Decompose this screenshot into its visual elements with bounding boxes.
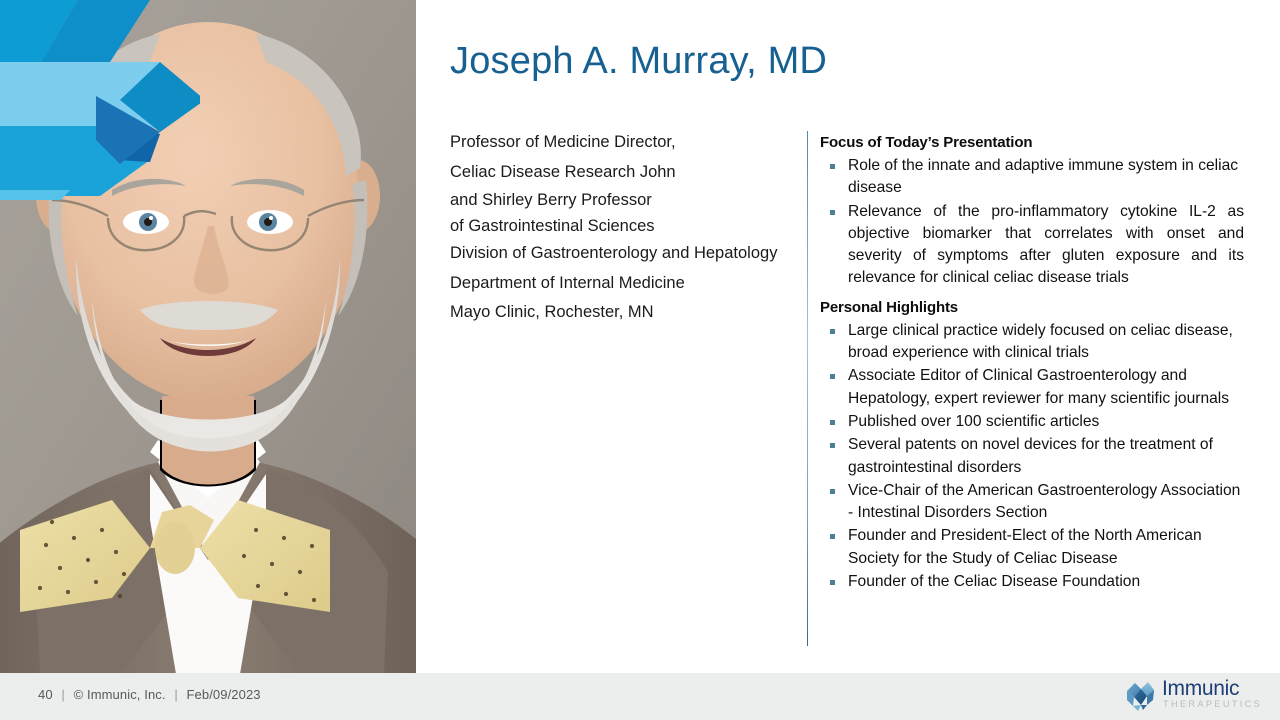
square-bullet-icon <box>830 164 835 169</box>
focus-bullet-list: Role of the innate and adaptive immune s… <box>820 155 1244 290</box>
square-bullet-icon <box>830 420 835 425</box>
affiliation-line: of Gastrointestinal Sciences <box>450 213 798 239</box>
square-bullet-icon <box>830 329 835 334</box>
square-bullet-icon <box>830 489 835 494</box>
immunic-logo-mark-icon <box>1124 679 1158 712</box>
list-item-text: Founder of the Celiac Disease Foundation <box>848 573 1140 590</box>
portrait-illustration <box>0 0 416 674</box>
section-heading-personal: Personal Highlights <box>820 298 1244 318</box>
list-item: Role of the innate and adaptive immune s… <box>820 155 1244 200</box>
vertical-divider <box>807 131 808 646</box>
section-heading-focus: Focus of Today’s Presentation <box>820 133 1244 153</box>
footer-date: Feb/09/2023 <box>187 687 261 702</box>
logo-tagline: THERAPEUTICS <box>1163 699 1262 710</box>
list-item: Vice-Chair of the American Gastroenterol… <box>820 480 1244 525</box>
list-item: Relevance of the pro-inflammatory cytoki… <box>820 201 1244 290</box>
affiliation-line: Department of Internal Medicine <box>450 269 798 299</box>
list-item-text: Large clinical practice widely focused o… <box>848 322 1233 361</box>
list-item-text: Founder and President-Elect of the North… <box>848 527 1202 566</box>
square-bullet-icon <box>830 443 835 448</box>
list-item: Several patents on novel devices for the… <box>820 434 1244 479</box>
footer-separator: | <box>169 687 182 702</box>
affiliation-block: Professor of Medicine Director, Celiac D… <box>450 128 798 328</box>
copyright-text: © Immunic, Inc. <box>74 687 166 702</box>
list-item-text: Role of the innate and adaptive immune s… <box>848 157 1238 196</box>
list-item: Associate Editor of Clinical Gastroenter… <box>820 365 1244 410</box>
square-bullet-icon <box>830 534 835 539</box>
square-bullet-icon <box>830 374 835 379</box>
affiliation-line: Professor of Medicine Director, <box>450 128 798 158</box>
affiliation-line: Mayo Clinic, Rochester, MN <box>450 298 798 328</box>
list-item-text: Associate Editor of Clinical Gastroenter… <box>848 367 1229 406</box>
list-item: Large clinical practice widely focused o… <box>820 320 1244 365</box>
footer-text: 40 | © Immunic, Inc. | Feb/09/2023 <box>38 687 261 702</box>
slide-number: 40 <box>38 687 53 702</box>
list-item-text: Several patents on novel devices for the… <box>848 436 1213 475</box>
affiliation-line: Division of Gastroenterology and Hepatol… <box>450 239 798 269</box>
list-item: Founder and President-Elect of the North… <box>820 525 1244 570</box>
immunic-logo: Immunic THERAPEUTICS <box>1124 678 1254 714</box>
square-bullet-icon <box>830 210 835 215</box>
portrait-photo <box>0 0 416 674</box>
affiliation-line: and Shirley Berry Professor <box>450 187 798 213</box>
logo-wordmark: Immunic <box>1162 678 1239 700</box>
personal-bullet-list: Large clinical practice widely focused o… <box>820 320 1244 594</box>
list-item-text: Vice-Chair of the American Gastroenterol… <box>848 482 1240 521</box>
slide: Joseph A. Murray, MD Professor of Medici… <box>0 0 1280 720</box>
affiliation-line: Celiac Disease Research John <box>450 158 798 188</box>
list-item-text: Published over 100 scientific articles <box>848 413 1099 430</box>
highlights-column: Focus of Today’s Presentation Role of th… <box>820 133 1244 594</box>
square-bullet-icon <box>830 580 835 585</box>
page-title: Joseph A. Murray, MD <box>450 40 827 83</box>
footer-separator: | <box>56 687 69 702</box>
list-item-text: Relevance of the pro-inflammatory cytoki… <box>848 203 1244 287</box>
list-item: Published over 100 scientific articles <box>820 411 1244 433</box>
list-item: Founder of the Celiac Disease Foundation <box>820 571 1244 593</box>
